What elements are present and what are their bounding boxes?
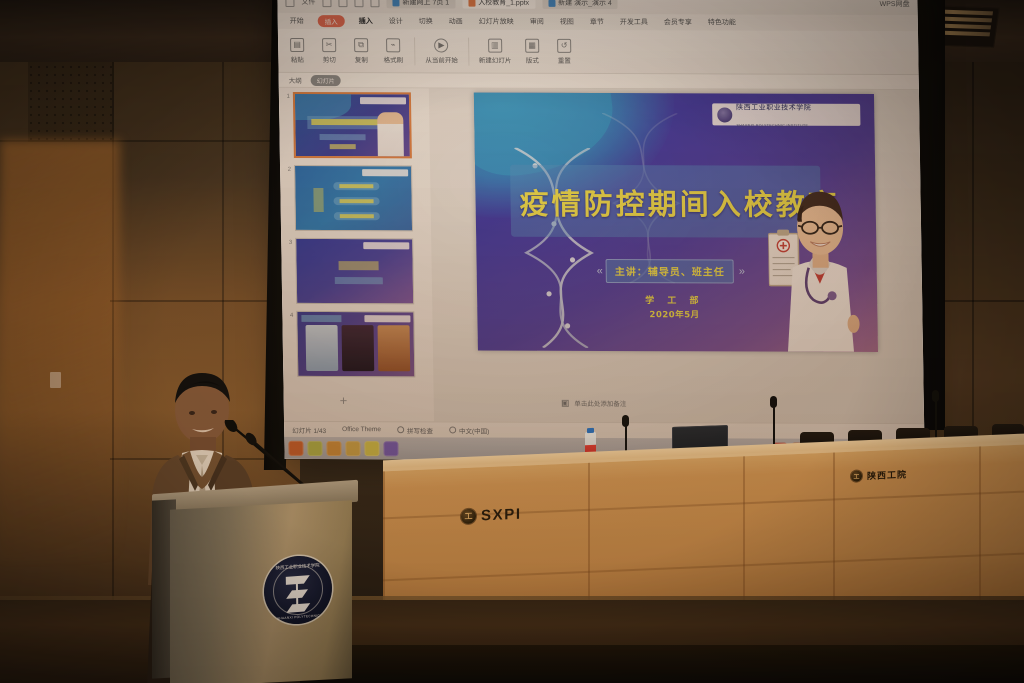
ribbon-tab-5[interactable]: 幻灯片放映: [477, 17, 516, 27]
from-current-label: 从当前开始: [425, 54, 458, 64]
outline-tab[interactable]: 大纲: [289, 75, 302, 85]
doc2-icon: [548, 0, 555, 6]
ribbon-button-layout[interactable]: ▦ 版式: [521, 38, 543, 64]
ribbon-tab-6[interactable]: 审阅: [528, 17, 546, 27]
sxpi-label: SXPI: [481, 506, 522, 525]
reset-icon: ↺: [557, 38, 571, 52]
taskbar-icon-5[interactable]: [383, 441, 398, 456]
thumbnail-row[interactable]: 4: [284, 311, 433, 378]
undo-icon[interactable]: [354, 0, 363, 7]
ribbon-tab-0[interactable]: 开始: [288, 16, 306, 26]
layout-icon: ▦: [525, 38, 539, 52]
cloud-label[interactable]: WPS网盘: [880, 0, 910, 9]
ribbon-button-cut[interactable]: ✂ 剪切: [318, 38, 340, 64]
ribbon-button-reset[interactable]: ↺ 重置: [553, 38, 575, 64]
slide-editing-area[interactable]: 陕西工业职业技术学院 SHAANXI POLYTECHNIC INSTITUTE…: [429, 88, 924, 423]
slide-subtitle: 主讲：辅导员、班主任: [615, 267, 725, 278]
cartoon-doctor-icon: [767, 172, 874, 352]
slide-date: 2020年5月: [645, 308, 703, 320]
subtitle-row: « 主讲：辅导员、班主任 »: [597, 259, 744, 284]
format-painter-label: 格式刷: [384, 54, 404, 64]
slide-thumb-agenda[interactable]: [294, 165, 413, 231]
spellcheck-status[interactable]: 拼写检查: [397, 425, 433, 435]
svg-text:SHAANXI POLYTECHNIC: SHAANXI POLYTECHNIC: [277, 613, 320, 620]
thumbnail-row[interactable]: 1: [281, 92, 430, 159]
ppt-icon: [468, 0, 475, 6]
ribbon-button-format-painter[interactable]: ⌁ 格式刷: [382, 38, 404, 64]
thumb-number: 3: [283, 238, 292, 246]
print-icon[interactable]: [338, 0, 347, 7]
ribbon-tab-7[interactable]: 视图: [558, 17, 576, 27]
active-doc-label: 入校教育_1.pptx: [478, 0, 529, 8]
thumbnail-row[interactable]: 3: [283, 238, 432, 305]
ribbon-tab-8[interactable]: 章节: [588, 17, 606, 27]
ribbon-tab-1[interactable]: 插入: [357, 16, 375, 26]
ribbon-button-copy[interactable]: ⧉ 复制: [350, 38, 372, 64]
slide-thumb-title[interactable]: [293, 92, 412, 158]
spellcheck-icon: [397, 426, 404, 433]
thumbnail-row[interactable]: 2: [282, 165, 431, 232]
auditorium-scene: 文件 新建网上 7页 1 入校教育_1.pptx 新建 演示_演示 4: [0, 0, 1024, 683]
document-tab-active[interactable]: 入校教育_1.pptx: [462, 0, 535, 9]
institute-name-en: SHAANXI POLYTECHNIC INSTITUTE: [736, 123, 808, 127]
desk-logo-sxpi: 工 SXPI: [461, 506, 522, 526]
ribbon-button-new-slide[interactable]: ▥ 新建幻灯片: [479, 38, 512, 64]
paste-label: 粘贴: [291, 53, 304, 63]
sxpi-emblem-icon: 工: [461, 509, 476, 525]
desk-logo-cn-label: 陕西工院: [867, 467, 907, 482]
slide-thumb-cards[interactable]: [296, 311, 415, 377]
sxpi-emblem-icon-small: 工: [851, 470, 862, 481]
slide-thumb-section[interactable]: [295, 238, 414, 304]
department-label: 学 工 部: [645, 293, 703, 306]
save-icon[interactable]: [322, 0, 331, 7]
ribbon-tab-4[interactable]: 动画: [447, 16, 465, 26]
notes-icon: ▣: [561, 399, 568, 406]
chevron-left-icon: «: [597, 265, 601, 277]
cut-icon: ✂: [322, 38, 336, 52]
copy-icon: ⧉: [354, 38, 368, 52]
ribbon-tab-11[interactable]: 特色功能: [706, 17, 738, 27]
ribbon-tab-9[interactable]: 开发工具: [618, 17, 650, 27]
notes-hint-row[interactable]: ▣ 单击此处添加备注: [434, 397, 754, 408]
doc-icon: [392, 0, 399, 6]
projection-screen: 文件 新建网上 7页 1 入校教育_1.pptx 新建 演示_演示 4: [277, 0, 924, 461]
paste-icon: ▤: [290, 37, 304, 51]
ribbon-button-paste[interactable]: ▤ 粘贴: [286, 37, 308, 63]
ribbon-tab-10[interactable]: 会员专享: [662, 17, 694, 27]
wall-switch-plate: [50, 372, 61, 388]
menu-icon[interactable]: [285, 0, 294, 6]
notes-placeholder[interactable]: 单击此处添加备注: [574, 398, 626, 408]
format-painter-icon: ⌁: [386, 38, 400, 52]
current-slide[interactable]: 陕西工业职业技术学院 SHAANXI POLYTECHNIC INSTITUTE…: [474, 93, 878, 352]
redo-icon[interactable]: [370, 0, 379, 7]
add-slide-button[interactable]: +: [340, 394, 348, 407]
svg-text:陕西工业职业技术学院: 陕西工业职业技术学院: [276, 561, 321, 571]
copy-label: 复制: [355, 54, 368, 64]
thumb-number: 4: [284, 311, 293, 319]
document-tab-inactive[interactable]: 新建网上 7页 1: [386, 0, 455, 9]
taskbar-icon-4[interactable]: [364, 441, 379, 456]
thumb-number: 2: [282, 165, 291, 173]
institute-name-cn: 陕西工业职业技术学院: [736, 105, 811, 112]
cut-label: 剪切: [323, 54, 336, 64]
ribbon-toolbar[interactable]: ▤ 粘贴 ✂ 剪切 ⧉ 复制 ⌁ 格式刷 ▶ 从当前开始: [278, 29, 919, 75]
slide-thumbnail-pane[interactable]: 1 2: [279, 88, 434, 421]
ribbon-tab-2[interactable]: 设计: [387, 16, 405, 26]
play-from-current-icon: ▶: [434, 38, 448, 52]
language-status[interactable]: 中文(中国): [449, 425, 490, 435]
layout-label: 版式: [526, 54, 539, 64]
language-icon: [449, 426, 456, 433]
university-emblem-icon: 陕西工业职业技术学院 SHAANXI POLYTECHNIC: [263, 554, 332, 627]
new-slide-icon: ▥: [488, 38, 502, 52]
file-menu-label[interactable]: 文件: [301, 0, 315, 7]
reset-label: 重置: [558, 54, 571, 64]
wall-light-pool: [0, 140, 120, 560]
wps-presentation-window: 文件 新建网上 7页 1 入校教育_1.pptx 新建 演示_演示 4: [277, 0, 924, 461]
desk-logo-cn: 工 陕西工院: [851, 467, 907, 482]
ribbon-button-from-current[interactable]: ▶ 从当前开始: [425, 38, 458, 64]
thumb-number: 1: [281, 92, 290, 100]
slide-footer: 学 工 部 2020年5月: [645, 293, 704, 320]
doc-tab-label: 新建网上 7页 1: [402, 0, 449, 8]
ribbon-tab-3[interactable]: 切换: [417, 16, 435, 26]
ribbon-tab-insert-pill[interactable]: 插入: [318, 15, 345, 27]
chevron-right-icon: »: [739, 265, 743, 277]
institute-emblem-icon: [717, 107, 732, 122]
slide-tab[interactable]: 幻灯片: [311, 75, 341, 86]
extra-tab-label: 新建 演示_演示 4: [558, 0, 612, 8]
new-slide-label: 新建幻灯片: [479, 54, 512, 64]
floor-shadow: [300, 645, 1024, 683]
institute-logo: 陕西工业职业技术学院 SHAANXI POLYTECHNIC INSTITUTE: [712, 103, 860, 126]
document-tab-extra[interactable]: 新建 演示_演示 4: [542, 0, 618, 9]
